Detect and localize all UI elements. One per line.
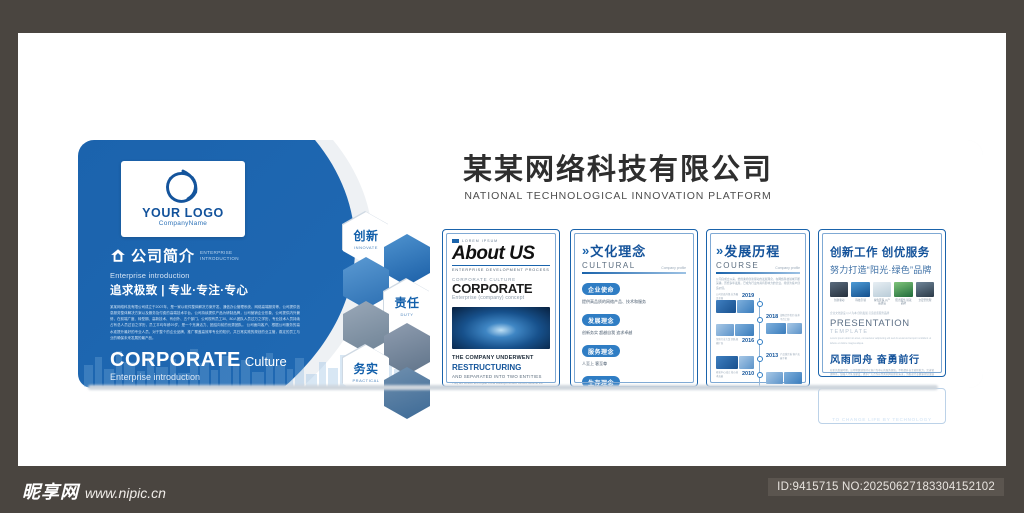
timeline-note: 荣获行业大奖 团队规模扩张 <box>716 338 740 346</box>
slogan-en: TO CHANGE LIFE BY TECHNOLOGY <box>832 417 932 422</box>
card-inner-border <box>822 233 942 373</box>
about-us-card[interactable]: LOREM IPSUM About US ENTERPRISE DEVELOPM… <box>442 229 560 387</box>
timeline-image <box>766 323 786 334</box>
timeline-image <box>737 300 754 313</box>
timeline-image <box>784 372 802 384</box>
timeline-dot <box>757 339 763 345</box>
card-inner-border <box>574 233 694 383</box>
site-brand[interactable]: 昵享网 www.nipic.cn <box>22 478 166 504</box>
course-timeline: 2019 公司全面升级 业务覆盖全国 2018 战略合作签约 技术平台上线 20… <box>716 298 800 387</box>
hexagon-label-cn: 创新 <box>353 227 378 244</box>
corporate-sub: Culture <box>245 354 287 369</box>
page-subtitle: NATIONAL TECHNOLOGICAL INNOVATION PLATFO… <box>418 190 818 202</box>
timeline-image <box>739 356 754 369</box>
site-footer: 昵享网 www.nipic.cn ID:9415715 NO:202506271… <box>0 466 1024 513</box>
hexagon-label-en: DUTY <box>401 312 414 317</box>
intro-heading-row: 公司简介 ENTERPRISE INTRODUCTION <box>110 245 300 266</box>
hexagon-label-en: PRACTICAL <box>353 378 380 383</box>
company-intro-block: 公司简介 ENTERPRISE INTRODUCTION Enterprise … <box>110 245 300 382</box>
timeline-image <box>787 323 802 334</box>
panel-shadow <box>88 385 938 390</box>
intro-heading-en-small: ENTERPRISE INTRODUCTION <box>200 250 240 261</box>
about-header: LOREM IPSUM About US ENTERPRISE DEVELOPM… <box>443 230 559 301</box>
logo-card: YOUR LOGO CompanyName <box>121 161 245 237</box>
intro-body-text: 某某网络科技有限公司成立于2007年，是一家以软件整体解决方案开发、通信办公管理… <box>110 304 300 341</box>
timeline-image <box>735 324 754 336</box>
timeline-note: 研发中心成立 核心技术突破 <box>716 371 740 379</box>
timeline-dot <box>757 301 763 307</box>
timeline-year: 2013 <box>766 353 778 359</box>
intro-heading-cn: 公司简介 <box>131 245 195 266</box>
asset-id-label: ID:9415715 NO:20250627183304152102 <box>768 478 1004 496</box>
timeline-note: 产品线完善 客户突破千家 <box>780 353 802 361</box>
pentagon-knot-logo-icon <box>162 166 204 208</box>
timeline-image <box>716 300 736 313</box>
poster-artboard: 某某网络科技有限公司 NATIONAL TECHNOLOGICAL INNOVA… <box>18 33 1006 466</box>
slogan-badge: 科技改变生活 TO CHANGE LIFE BY TECHNOLOGY <box>818 388 946 424</box>
timeline-dot <box>757 356 763 362</box>
divider <box>452 265 550 266</box>
timeline-year: 2010 <box>742 371 754 377</box>
brand-url[interactable]: www.nipic.cn <box>85 485 166 501</box>
timeline-note: 公司全面升级 业务覆盖全国 <box>716 293 740 301</box>
about-title: About US <box>452 244 550 263</box>
course-card[interactable]: » 发展历程 COURSE Company profile 公司自成立以来，始终… <box>706 229 810 387</box>
timeline-year: 2018 <box>766 314 778 320</box>
slogan-cn: 科技改变生活 <box>828 391 936 416</box>
intro-slogan: 追求极致 | 专业·专注·专心 <box>110 282 300 298</box>
timeline-note: 战略合作签约 技术平台上线 <box>780 314 802 322</box>
culture-card[interactable]: » 文化理念 CULTURAL Company profile 企业使命 提供高… <box>570 229 698 387</box>
timeline-dot <box>757 372 763 378</box>
logo-subtitle: CompanyName <box>121 220 245 227</box>
timeline-image <box>716 324 734 336</box>
hexagon-label-en: INNOVATE <box>354 245 378 250</box>
logo-name: YOUR LOGO <box>121 206 245 220</box>
hexagon-label-cn: 务实 <box>353 360 378 377</box>
timeline-dot <box>757 317 763 323</box>
corporate-wordmark: CORPORATECulture Enterprise introduction <box>110 349 300 382</box>
about-subtitle: ENTERPRISE DEVELOPMENT PROCESS <box>452 268 550 272</box>
poster-header: 某某网络科技有限公司 NATIONAL TECHNOLOGICAL INNOVA… <box>418 146 818 202</box>
innovation-card[interactable]: 创新工作 创优服务 努力打造“阳光·绿色”品牌 创新驱动 科技引领 绿色环保 以… <box>818 229 946 377</box>
home-icon <box>110 248 126 263</box>
corporate-main: CORPORATE <box>110 349 241 371</box>
intro-heading-en: Enterprise introduction <box>110 271 300 280</box>
timeline-year: 2019 <box>742 293 754 299</box>
timeline-year: 2016 <box>742 338 754 344</box>
about-concept: Enterprise (company) concept <box>452 295 550 301</box>
hexagon-label-cn: 责任 <box>394 294 419 311</box>
about-corporate: CORPORATE <box>452 282 550 296</box>
timeline-image <box>716 356 738 369</box>
page-title: 某某网络科技有限公司 <box>418 146 818 188</box>
brand-name-cn: 昵享网 <box>22 478 79 504</box>
timeline-image <box>766 372 783 384</box>
corporate-en: Enterprise introduction <box>110 372 300 382</box>
